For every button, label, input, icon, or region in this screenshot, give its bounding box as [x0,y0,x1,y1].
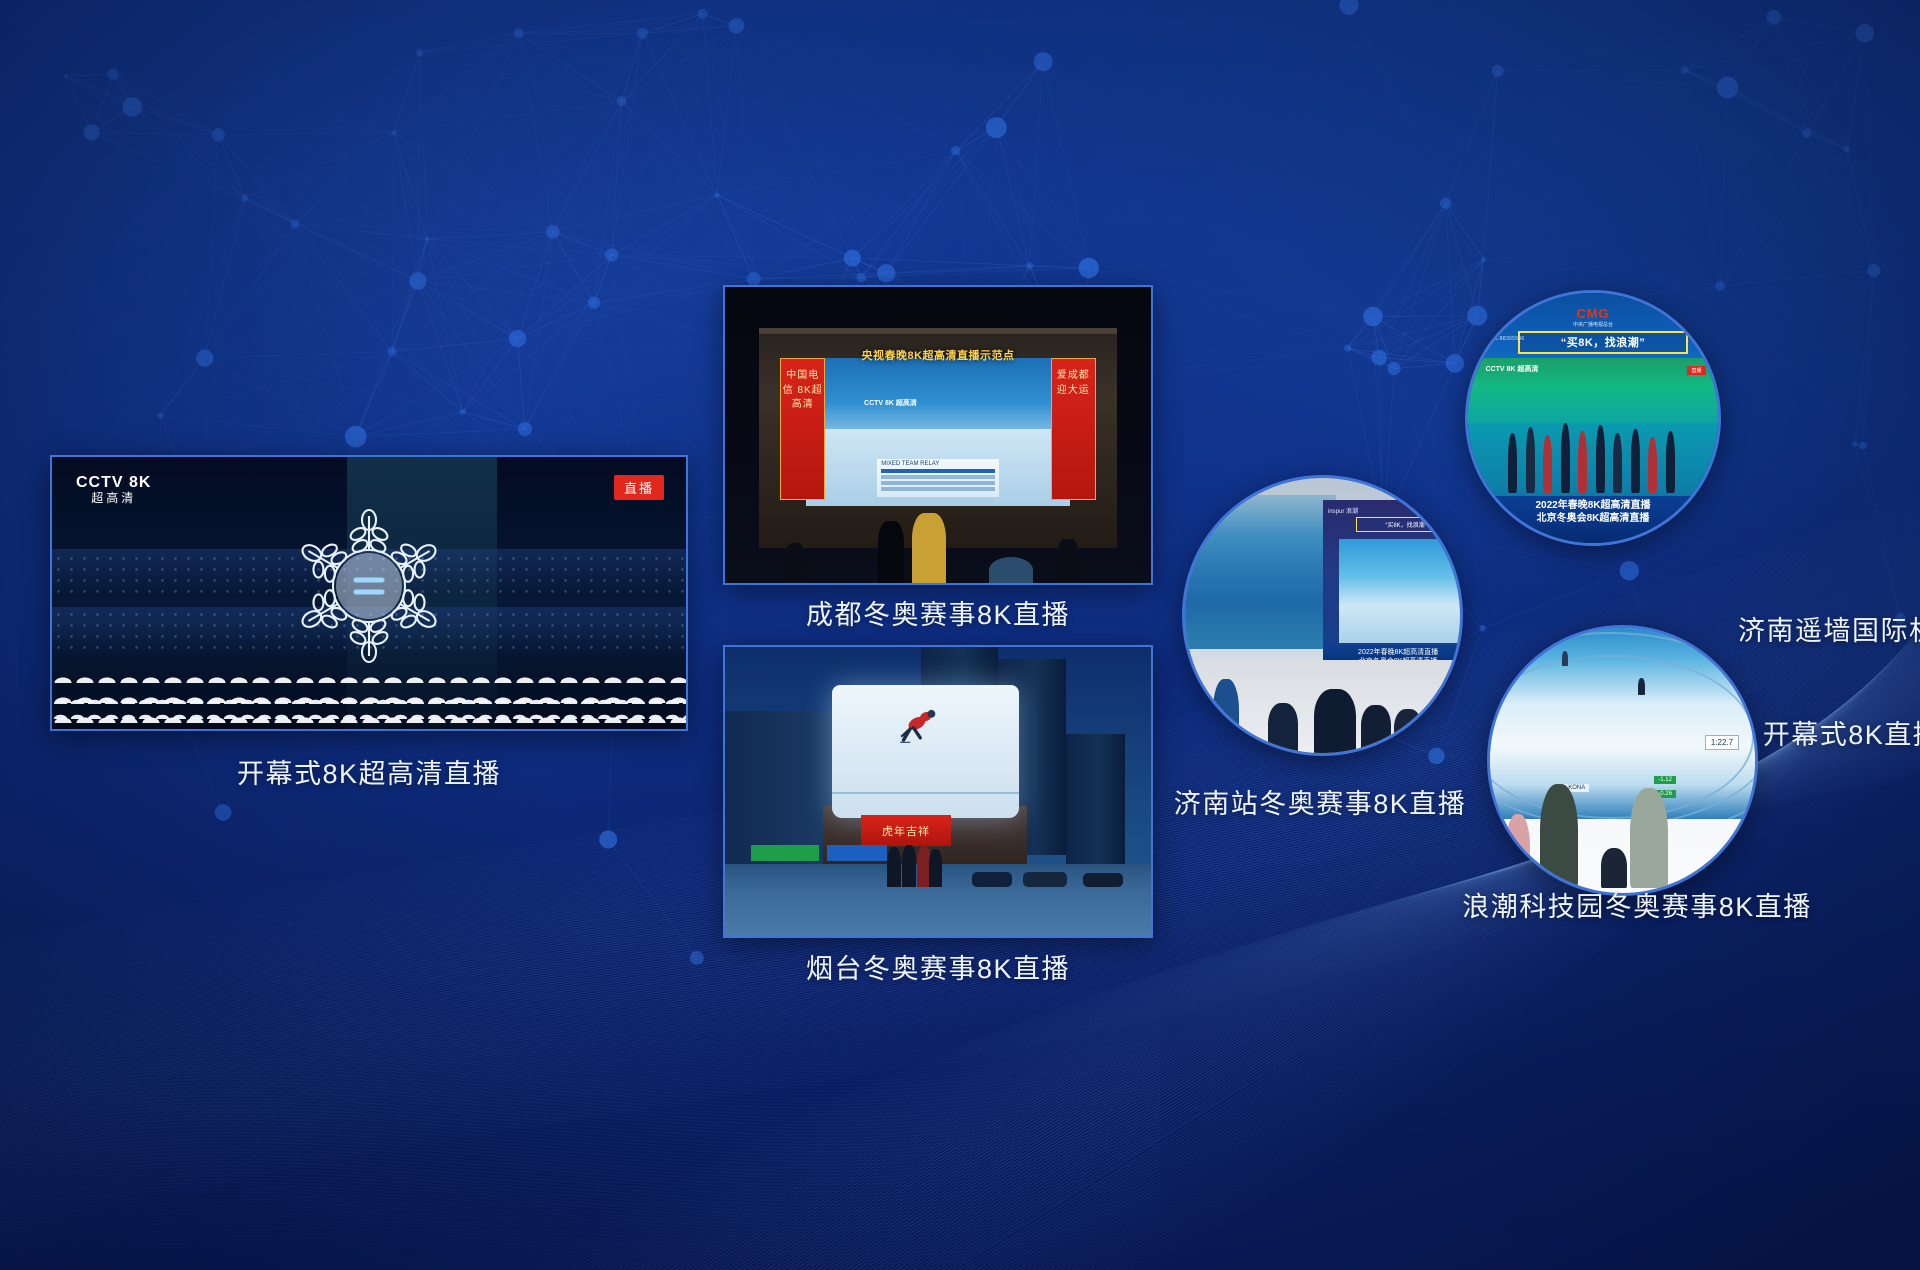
cd-channel-logo: CCTV 8K 超高清 [864,398,917,408]
photo-jinan-station[interactable]: “买8K，找浪潮” inspur 浪潮 2022年春晚8K超高清直播 北京冬奥会… [1182,475,1463,756]
yt-tower [1066,734,1126,884]
photo-chengdu[interactable]: CCTV 8K 超高清 MIXED TEAM RELAY 央视春晚8K超高清直播… [723,285,1153,585]
cd-silhouette [878,521,904,583]
cctv-logo-line2: 超高清 [76,492,151,505]
cmg-logo-text: CMG [1576,306,1609,321]
cd-silhouette [1057,539,1079,583]
js-viewer [1213,679,1239,753]
ip-timer: 1:22.7 [1705,735,1739,750]
cd-right-banner: 爱成都 迎大运 [1051,358,1096,500]
caption-yantai: 烟台冬奥赛事8K直播 [806,952,1070,987]
cd-left-banner: 中国电信 8K超高清 [780,358,825,500]
js-viewer [1394,709,1422,753]
ap-bottom-strip: 2022年春晚8K超高清直播 北京冬奥会8K超高清直播 [1468,496,1718,544]
ip-skater [1638,678,1645,695]
yt-shop-sign [827,845,887,861]
ap-athlete [1631,429,1640,493]
js-viewer [1361,705,1391,753]
cd-umbrella [989,557,1033,583]
photo-jinan-airport[interactable]: CMG 中央广播电视总台 “买8K，找浪潮” 0531-88305546 CCT… [1465,290,1721,546]
js-screen-brand: inspur 浪潮 [1328,506,1358,515]
oc-performer-crowd-front [52,689,686,729]
ip-skater [1562,651,1568,666]
cd-scoreboard: MIXED TEAM RELAY [877,459,999,497]
cd-led-screen: CCTV 8K 超高清 MIXED TEAM RELAY [806,358,1070,506]
snowflake-torch-icon [294,508,444,668]
caption-jinan-station: 济南站冬奥赛事8K直播 [1174,787,1467,822]
caption-chengdu: 成都冬奥赛事8K直播 [806,598,1070,633]
yt-viewer [887,847,901,887]
ap-bottom-line1: 2022年春晚8K超高清直播 [1468,499,1718,513]
cd-scoreboard-row [881,481,995,485]
photo-frame: 虎年吉祥 [723,645,1153,938]
ap-athlete [1526,427,1535,493]
yt-mall [725,711,836,867]
js-viewer [1268,703,1298,753]
ap-athlete [1578,431,1587,493]
js-wall-mural [1185,495,1336,649]
cd-scoreboard-title: MIXED TEAM RELAY [881,461,995,467]
ip-led-screen: CCTV 8K 超高清 女子3000米 KONA -1.12 -0.26 1:2… [1490,628,1755,819]
yt-car [972,872,1012,887]
js-led-screen [1339,539,1463,644]
js-bottom-line1: 2022年春晚8K超高清直播 [1323,648,1464,657]
showcase-stage: CCTV 8K 超高清 直播 开幕式8K超高清直播 CCTV 8K 超高清 MI… [0,0,1920,1270]
ap-bottom-line2: 北京冬奥会8K超高清直播 [1468,512,1718,526]
ap-athlete [1666,431,1675,493]
ap-athlete [1508,433,1517,493]
ip-event-label: 女子3000米 [1702,638,1739,649]
ap-slogan-banner: “买8K，找浪潮” [1518,331,1688,354]
ap-channel-logo: CCTV 8K 超高清 [1486,366,1539,374]
photo-frame: CCTV 8K 超高清 MIXED TEAM RELAY 央视春晚8K超高清直播… [723,285,1153,585]
yt-viewer [929,849,942,887]
ap-athlete [1648,437,1657,493]
ip-channel-logo: CCTV 8K 超高清 [1506,639,1559,647]
caption-opening-ceremony: 开幕式8K超高清直播 [237,757,501,792]
cd-scoreboard-row [881,475,995,479]
cd-scoreboard-row [881,469,995,473]
ap-athlete [1613,433,1622,493]
ip-split-1: -1.12 [1654,776,1676,784]
photo-yantai[interactable]: 虎年吉祥 [723,645,1153,938]
ap-athlete [1596,425,1605,493]
ap-athlete [1543,435,1552,493]
ap-athlete [1561,423,1570,493]
yt-shop-sign [751,845,819,861]
cd-silhouette [912,513,946,583]
ip-viewer [1630,788,1668,888]
ip-viewer-child [1601,848,1627,888]
caption-inspur-park: 浪潮科技园冬奥赛事8K直播 [1462,890,1812,925]
speed-skater-icon [891,701,947,757]
yt-viewer [902,845,916,887]
live-badge: 直播 [614,475,664,500]
js-slogan-banner: “买8K，找浪潮” [1356,517,1457,532]
caption-jinan-airport-line2: 开幕式8K直播 [1738,718,1920,753]
js-viewer [1314,689,1356,753]
cctv-8k-logo: CCTV 8K 超高清 [76,475,151,504]
yt-curved-led-screen [832,685,1019,818]
cd-scoreboard-row [881,487,995,491]
yt-car [1023,872,1067,887]
yt-car [1083,873,1123,887]
yt-screen-line [832,792,1019,794]
cd-silhouette [785,543,805,583]
ap-phone: 0531-88305546 [1486,336,1525,342]
photo-inspur-park[interactable]: CCTV 8K 超高清 女子3000米 KONA -1.12 -0.26 1:2… [1487,625,1758,896]
ap-live-badge: 直播 [1687,366,1705,375]
cmg-logo-sub: 中央广播电视总台 [1573,321,1613,328]
cmg-logo: CMG 中央广播电视总台 [1573,306,1613,328]
caption-jinan-airport: 济南遥墙国际机场 开幕式8K直播 [1738,545,1920,821]
cctv-logo-line1: CCTV 8K [76,475,151,492]
caption-jinan-airport-line1: 济南遥墙国际机场 [1738,614,1920,649]
ip-viewer [1506,814,1530,888]
cd-screen-banner: 央视春晚8K超高清直播示范点 [806,345,1070,365]
yt-red-banner: 虎年吉祥 [861,815,950,847]
photo-frame: CCTV 8K 超高清 直播 [50,455,688,731]
photo-opening-ceremony[interactable]: CCTV 8K 超高清 直播 [50,455,688,731]
ip-viewer [1540,784,1578,888]
